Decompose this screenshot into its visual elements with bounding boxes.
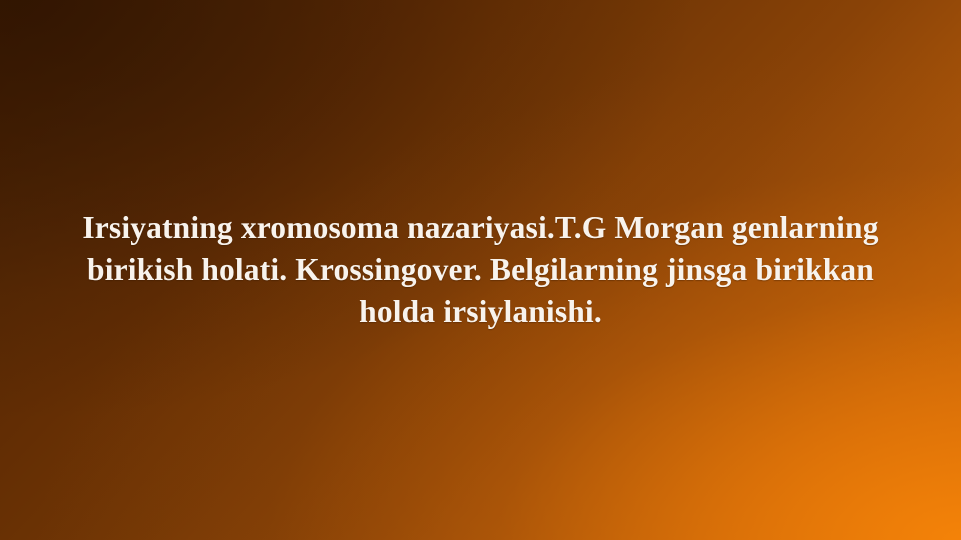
presentation-slide: Irsiyatning xromosoma nazariyasi.T.G Mor… [0,0,961,540]
slide-title-block: Irsiyatning xromosoma nazariyasi.T.G Mor… [66,207,896,333]
slide-title: Irsiyatning xromosoma nazariyasi.T.G Mor… [66,207,896,333]
